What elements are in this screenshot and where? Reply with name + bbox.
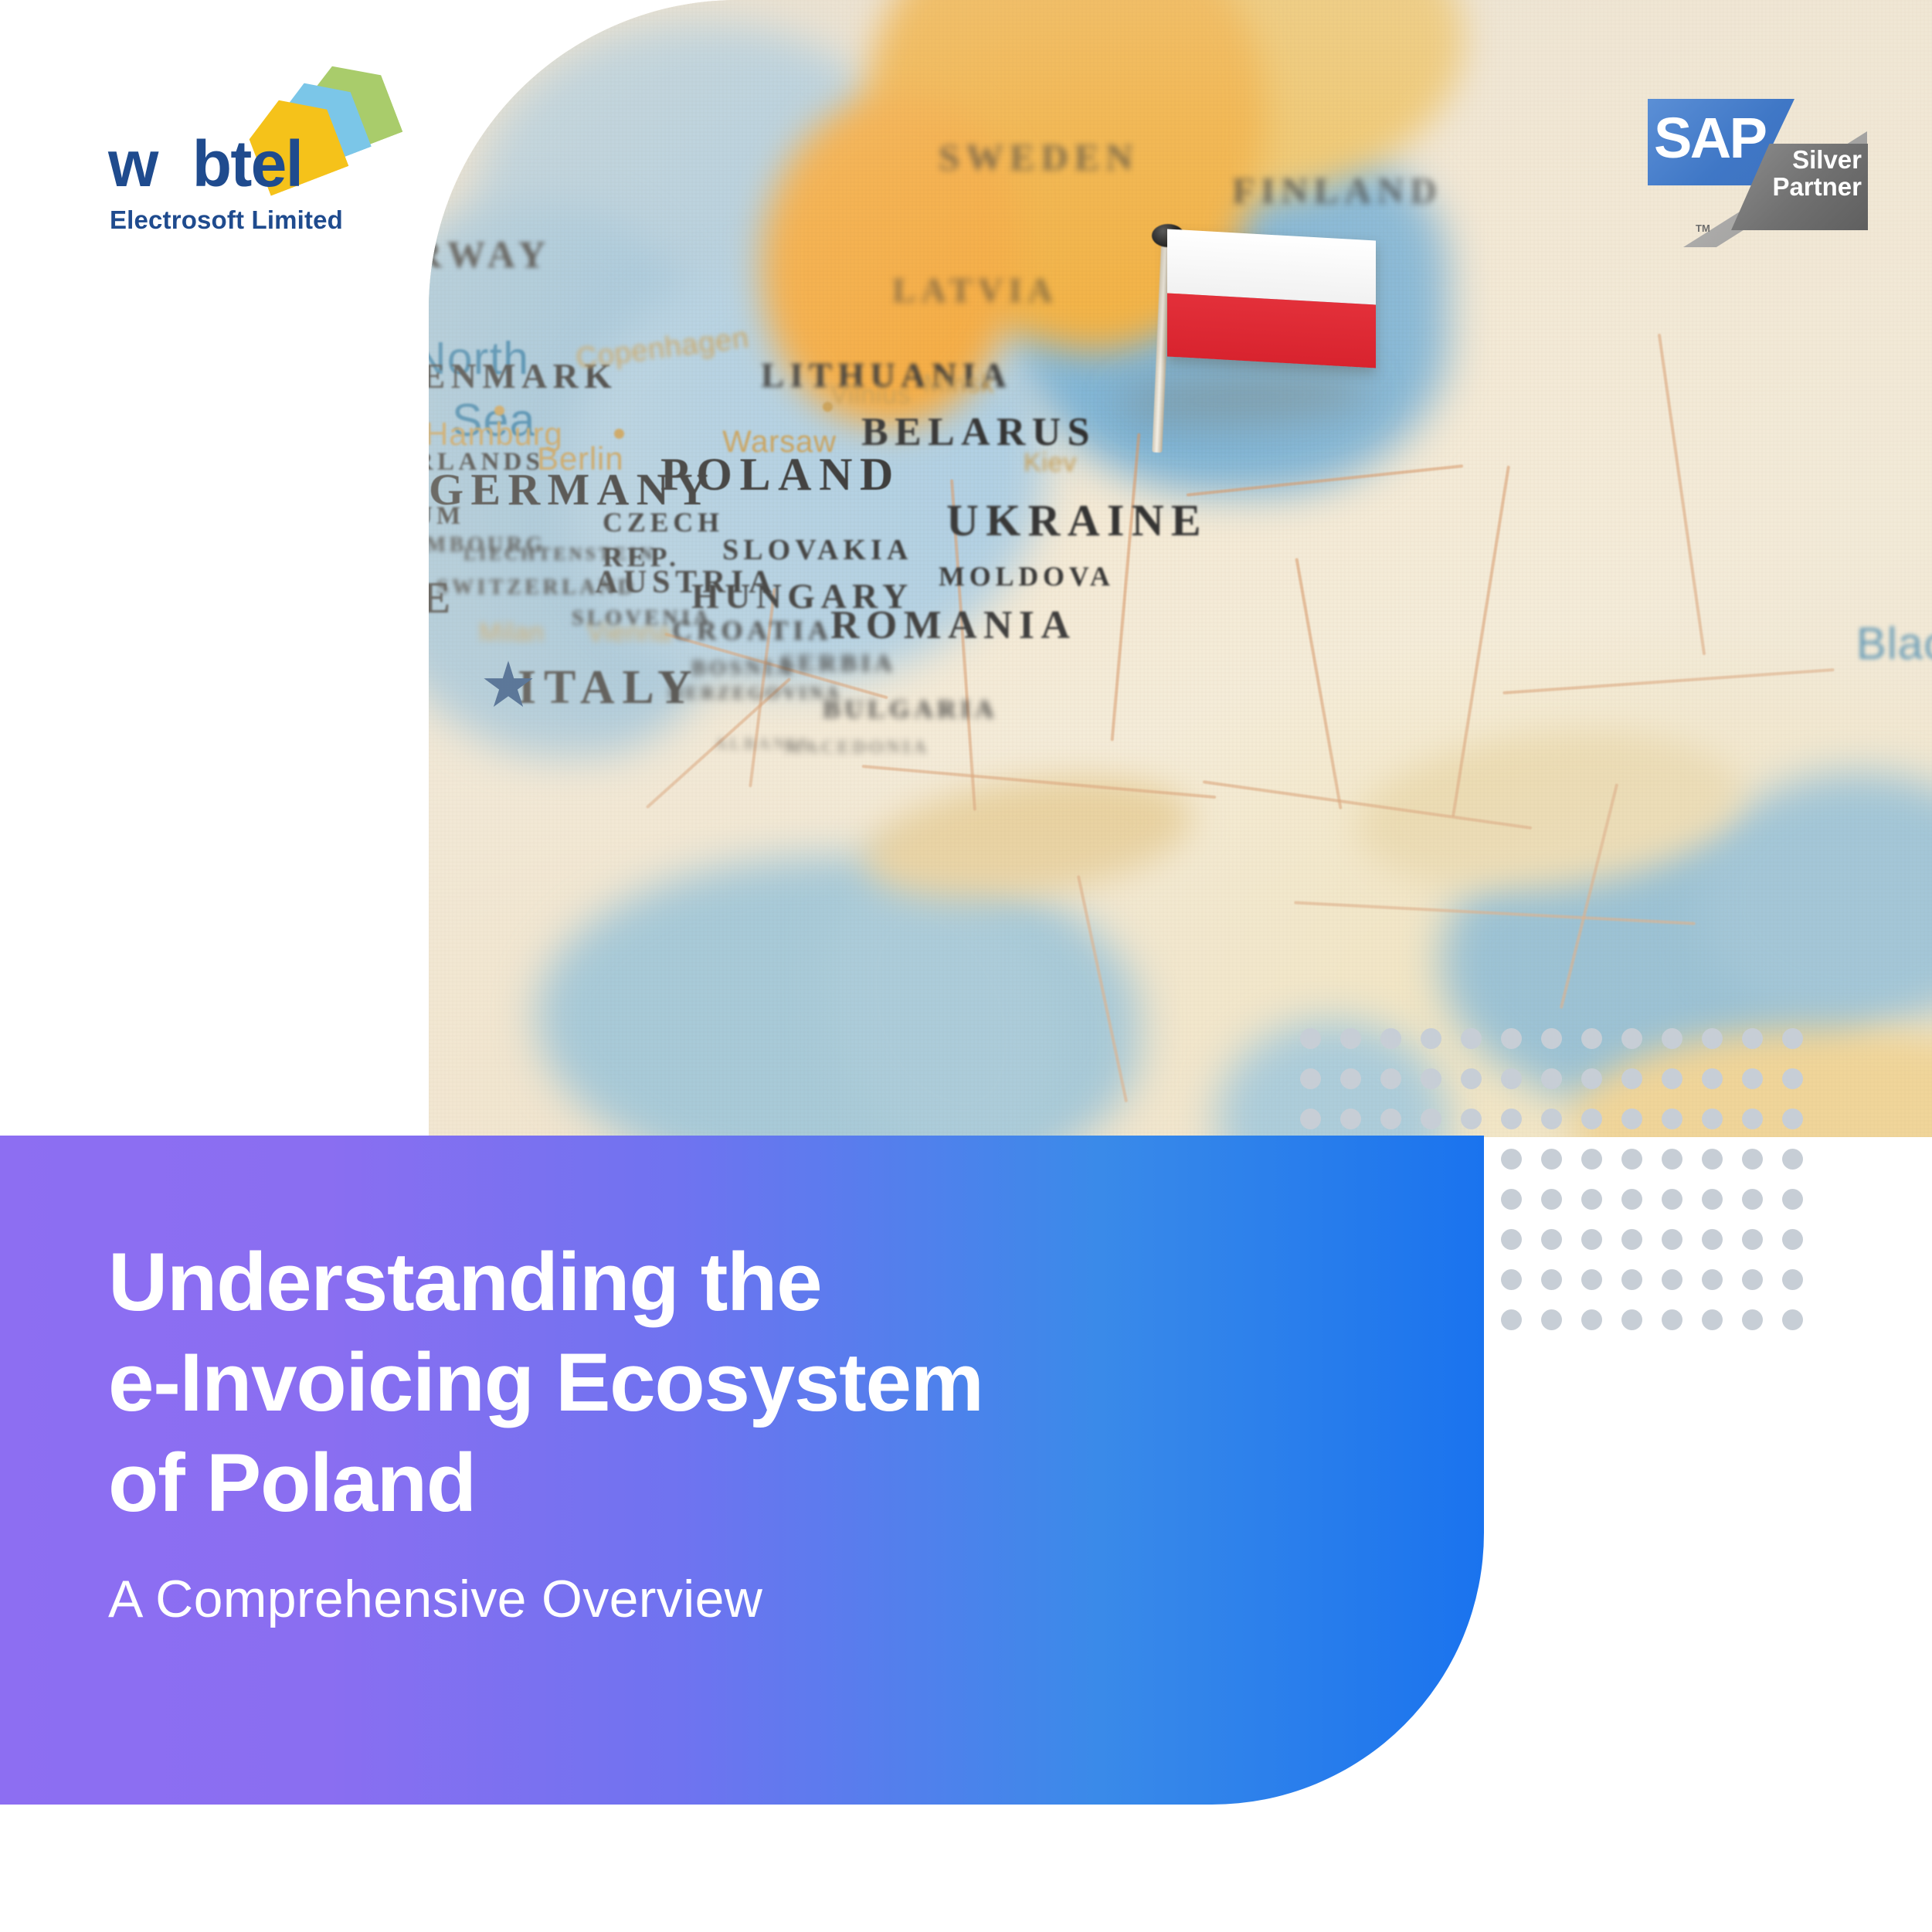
sap-silver-partner-badge: SAP TM Silver Partner [1648,99,1868,250]
decorative-dot [1300,1068,1321,1089]
decorative-dot [1621,1068,1642,1089]
decorative-dot [1421,1028,1441,1049]
decorative-dot [1581,1189,1602,1210]
decorative-dot [1782,1068,1803,1089]
title-line-3: of Poland [108,1432,1438,1533]
page-subtitle: A Comprehensive Overview [108,1568,1438,1632]
map-label-moldova: MOLDOVA [939,560,1115,593]
decorative-dot [1340,1068,1361,1089]
decorative-dot [1742,1229,1763,1250]
decorative-dot [1581,1309,1602,1330]
title-banner: Understanding the e-Invoicing Ecosystem … [0,1136,1484,1805]
decorative-dot [1702,1309,1723,1330]
decorative-dot [1702,1068,1723,1089]
flag-stripe-red [1167,293,1376,368]
map-label-black: Black [1856,618,1932,670]
decorative-dot [1501,1309,1522,1330]
decorative-dot [1662,1269,1682,1290]
decorative-dot [1742,1068,1763,1089]
map-label-milan: Milan [479,618,545,648]
decorative-dot [1581,1269,1602,1290]
map-label-latvia: LATVIA [892,270,1058,311]
decorative-dot [1541,1149,1562,1170]
logo-word-suffix: btel [192,127,303,200]
decorative-dot [1541,1269,1562,1290]
logo-tagline: Electrosoft Limited [110,207,343,233]
logo-word-highlight: e [158,127,192,200]
map-label-ukraine: UKRAINE [946,494,1208,546]
decorative-dot [1340,1109,1361,1129]
decorative-dot [1662,1109,1682,1129]
decorative-dot [1662,1309,1682,1330]
map-label-liechtenstein: LIECHTENSTEIN [463,545,656,565]
decorative-dot [1501,1269,1522,1290]
sap-tier-line-1: Silver [1730,147,1862,174]
decorative-dot [1782,1309,1803,1330]
map-city-dot [614,429,624,439]
decorative-dot [1621,1309,1642,1330]
map-label-vilnius: Vilnius [830,380,911,410]
decorative-dot [1621,1269,1642,1290]
decorative-dot [1621,1028,1642,1049]
map-label-bulgaria: BULGARIA [823,695,998,725]
decorative-dot [1782,1189,1803,1210]
decorative-dot [1702,1028,1723,1049]
poland-flag [1167,229,1376,368]
map-label-hamburg: Hamburg [429,416,563,453]
map-label-vienna: Vienna [587,618,671,648]
map-label-serbia: SERBIA [780,649,896,677]
decorative-dot [1621,1109,1642,1129]
decorative-dot [1421,1068,1441,1089]
decorative-dot [1702,1109,1723,1129]
map-label-switzerland: SWITZERLAND [436,576,637,600]
decorative-dot [1461,1068,1482,1089]
map-label-croatia: CROATIA [672,614,833,647]
decorative-dot [1702,1269,1723,1290]
decorative-dot [1621,1229,1642,1250]
decorative-dot [1782,1269,1803,1290]
decorative-dot [1541,1109,1562,1129]
decorative-dot [1662,1189,1682,1210]
decorative-dot [1501,1109,1522,1129]
decorative-dot [1501,1068,1522,1089]
decorative-dot [1782,1149,1803,1170]
map-label-warsaw: Warsaw [722,425,837,460]
decorative-dot [1742,1149,1763,1170]
decorative-dot [1501,1149,1522,1170]
decorative-dot [1380,1028,1401,1049]
sap-tier-label: Silver Partner [1730,147,1862,201]
decorative-dot [1541,1028,1562,1049]
map-label-kiev: Kiev [1024,448,1077,478]
map-label-norway: NORWAY [429,232,552,277]
map-label-romania: ROMANIA [830,603,1076,648]
logo-word-prefix: w [108,127,158,200]
decorative-dot [1662,1068,1682,1089]
decorative-dot [1782,1109,1803,1129]
map-label-italy: ITALY [518,660,700,715]
decorative-dot [1300,1109,1321,1129]
map-city-dot [823,402,833,412]
decorative-dot [1541,1068,1562,1089]
map-label-sweden: SWEDEN [939,135,1139,179]
decorative-dot [1702,1149,1723,1170]
decorative-dot [1340,1028,1361,1049]
map-city-dot [494,406,504,416]
map-label-finland: FINLAND [1232,170,1442,212]
decorative-dot [1621,1149,1642,1170]
decorative-dot [1742,1028,1763,1049]
decorative-dot [1662,1229,1682,1250]
map-label-slovakia: SLOVAKIA [722,533,912,567]
trademark-icon: TM [1696,222,1710,234]
map-label-czech: CZECH [603,506,724,538]
decorative-dot [1501,1229,1522,1250]
logo-wordmark: webtel [108,131,302,196]
decorative-dot [1541,1189,1562,1210]
poland-flag-pin [1147,224,1379,456]
decorative-dot [1581,1028,1602,1049]
decorative-dot [1300,1028,1321,1049]
decorative-dot [1621,1189,1642,1210]
webtel-logo[interactable]: webtel Electrosoft Limited [108,91,363,230]
map-label-minsk: Minsk [923,369,994,399]
decorative-dot [1702,1229,1723,1250]
decorative-dot [1581,1109,1602,1129]
decorative-dot [1581,1229,1602,1250]
title-line-1: Understanding the [108,1231,1438,1332]
decorative-dot [1742,1189,1763,1210]
decorative-dot [1501,1189,1522,1210]
title-line-2: e-Invoicing Ecosystem [108,1332,1438,1432]
decorative-dot [1662,1028,1682,1049]
decorative-dot [1461,1028,1482,1049]
decorative-dot [1662,1149,1682,1170]
decorative-dot [1581,1068,1602,1089]
decorative-dot [1541,1309,1562,1330]
decorative-dot [1461,1109,1482,1129]
decorative-dot [1421,1109,1441,1129]
map-label-belgium: BELGIUM [429,502,464,531]
decorative-dot [1742,1269,1763,1290]
decorative-dot [1742,1309,1763,1330]
decorative-dot [1380,1109,1401,1129]
decorative-dot [1702,1189,1723,1210]
decorative-dot [1782,1229,1803,1250]
page-title: Understanding the e-Invoicing Ecosystem … [108,1231,1438,1533]
decorative-dot [1782,1028,1803,1049]
flag-stripe-white [1167,229,1376,304]
decorative-dot [1541,1229,1562,1250]
sap-tier-line-2: Partner [1730,174,1862,201]
decorative-dot [1581,1149,1602,1170]
decorative-dot [1501,1028,1522,1049]
map-label-albania: ALBANIA [715,734,812,754]
banner-content: Understanding the e-Invoicing Ecosystem … [108,1231,1438,1632]
decorative-dot [1742,1109,1763,1129]
decorative-dot [1380,1068,1401,1089]
